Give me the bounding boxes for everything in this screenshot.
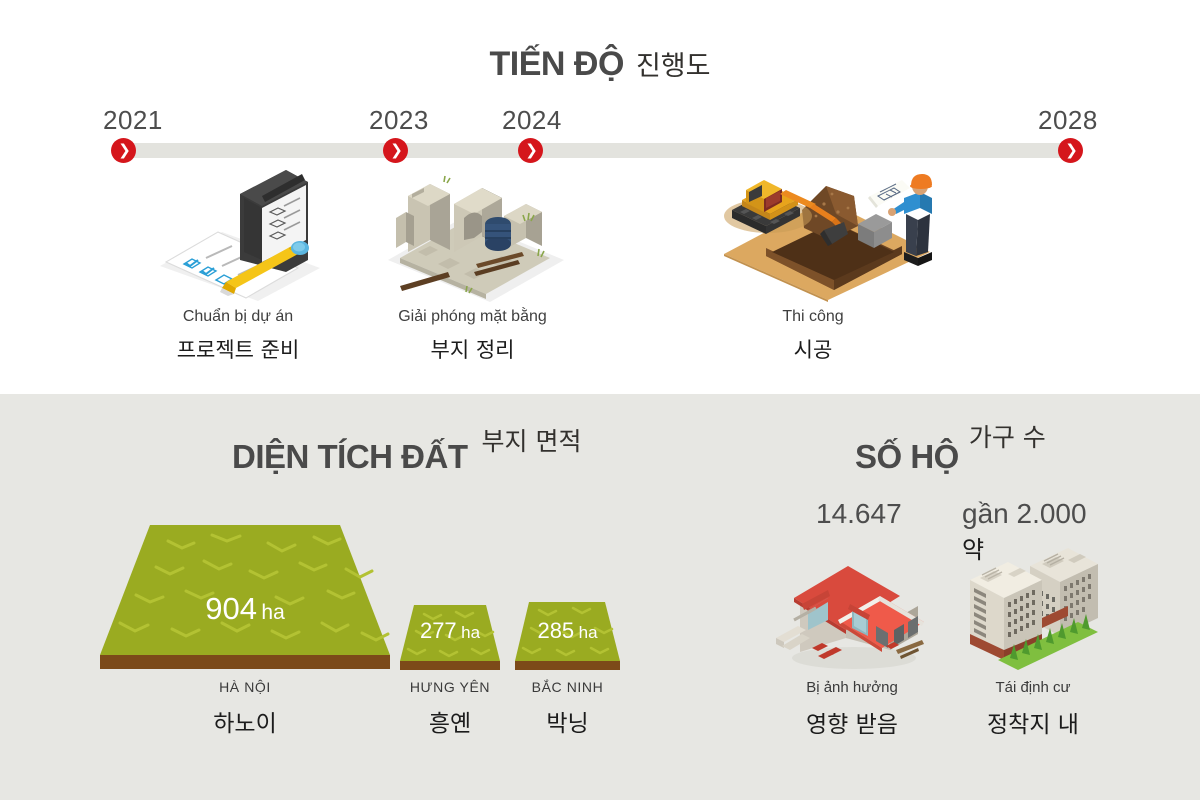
timeline-step-1-vn: Chuẩn bị dự án: [138, 308, 338, 326]
land-plot-hungyen-loc-vn: HƯNG YÊN: [385, 679, 515, 695]
land-plot-hungyen-loc-kr: 흥옌: [385, 704, 515, 738]
document-checklist-phone-icon: [148, 162, 328, 302]
chevron-right-icon: ❯: [118, 143, 131, 158]
chevron-right-icon: ❯: [525, 143, 538, 158]
land-plot-hanoi-loc-kr: 하노이: [100, 704, 390, 738]
timeline-marker-2028[interactable]: ❯: [1058, 138, 1083, 163]
timeline-marker-2021[interactable]: ❯: [111, 138, 136, 163]
land-plot-bacninh-loc-kr: 박닝: [505, 704, 630, 738]
demolished-building-ruins-icon: [378, 160, 573, 305]
land-plot-bacninh-unit: ha: [579, 623, 598, 642]
timeline-year-2021: 2021: [103, 105, 163, 136]
households-title-kr: 가구 수: [969, 418, 1046, 454]
timeline-title-vn: TIẾN ĐỘ: [490, 45, 624, 84]
timeline-year-2024: 2024: [502, 105, 562, 136]
land-plot-hungyen-label: HƯNG YÊN 흥옌: [385, 679, 515, 738]
households-title: SỐ HỘ 가구 수: [855, 438, 1046, 476]
timeline-step-2-vn: Giải phóng mặt bằng: [370, 308, 575, 326]
land-area-title-vn: DIỆN TÍCH ĐẤT: [232, 438, 468, 476]
excavator-digging-icon: [706, 152, 946, 302]
land-plot-hanoi-loc-vn: HÀ NỘI: [100, 679, 390, 695]
damaged-house-icon: [772, 534, 932, 670]
households-resettled-kr: 정착지 내: [958, 705, 1108, 739]
apartment-towers-icon: [958, 540, 1108, 670]
households-resettled-label: Tái định cư 정착지 내: [958, 679, 1108, 739]
land-plot-hanoi-number: 904: [205, 591, 257, 626]
infographic-root: TIẾN ĐỘ 진행도 2021 2023 2024 2028 ❯ ❯ ❯ ❯: [0, 0, 1200, 800]
land-plot-hanoi-label: HÀ NỘI 하노이: [100, 679, 390, 738]
land-plot-bacninh-loc-vn: BẮC NINH: [505, 679, 630, 695]
land-area-title-kr: 부지 면적: [482, 422, 582, 458]
households-affected-value: 14.647: [816, 498, 902, 530]
timeline-step-2-kr: 부지 정리: [370, 334, 575, 364]
land-plot-hungyen-unit: ha: [461, 623, 480, 642]
timeline-step-3-label: Thi công 시공: [718, 308, 908, 364]
households-title-vn: SỐ HỘ: [855, 438, 959, 476]
timeline-step-1-kr: 프로젝트 준비: [138, 334, 338, 364]
land-plot-hungyen-value: 277 ha: [400, 618, 500, 644]
land-plot-bacninh-number: 285: [537, 618, 574, 643]
timeline-step-1-label: Chuẩn bị dự án 프로젝트 준비: [138, 308, 338, 364]
land-plot-hanoi-unit: ha: [261, 601, 284, 624]
land-plot-hungyen-number: 277: [420, 618, 457, 643]
households-affected-vn: Bị ảnh hưởng: [772, 679, 932, 696]
timeline-step-2-label: Giải phóng mặt bằng 부지 정리: [370, 308, 575, 364]
timeline-step-3-kr: 시공: [718, 334, 908, 364]
land-plot-bacninh-label: BẮC NINH 박닝: [505, 679, 630, 738]
timeline-year-2028: 2028: [1038, 105, 1098, 136]
households-affected-label: Bị ảnh hưởng 영향 받음: [772, 679, 932, 739]
timeline-year-2023: 2023: [369, 105, 429, 136]
timeline-step-3-vn: Thi công: [718, 308, 908, 326]
households-resettled-vn: Tái định cư: [958, 679, 1108, 696]
households-affected-kr: 영향 받음: [772, 705, 932, 739]
land-plot-hanoi-value: 904 ha: [100, 591, 390, 627]
chevron-right-icon: ❯: [1065, 143, 1078, 158]
land-area-title: DIỆN TÍCH ĐẤT 부지 면적: [232, 438, 581, 476]
chevron-right-icon: ❯: [390, 143, 403, 158]
land-plot-bacninh-value: 285 ha: [515, 618, 620, 644]
households-resettled-value: gần 2.000: [962, 498, 1087, 530]
timeline-title: TIẾN ĐỘ 진행도: [0, 44, 1200, 84]
timeline-title-kr: 진행도: [636, 44, 711, 83]
